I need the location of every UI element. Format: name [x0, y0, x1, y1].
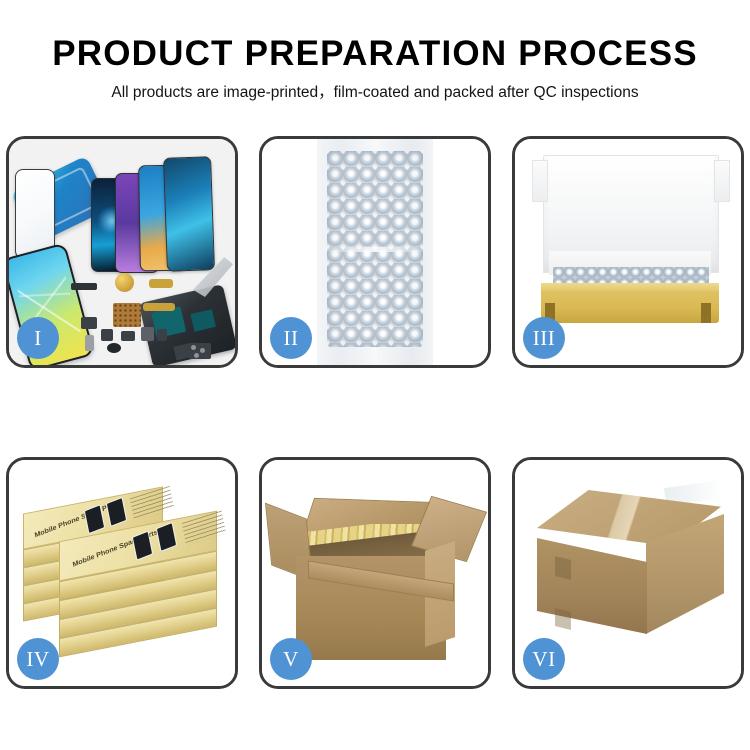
part-bar-icon — [71, 283, 97, 290]
process-step-panel-6[interactable]: VI — [512, 457, 744, 689]
bubble-wrap-seam-graphic — [323, 247, 427, 252]
part-square-5-icon — [157, 329, 167, 341]
process-step-panel-1[interactable]: I — [6, 136, 238, 368]
process-step-panel-2[interactable]: II — [259, 136, 491, 368]
part-camera-icon — [107, 343, 121, 353]
part-flex-cable-2-icon — [143, 303, 175, 311]
part-screws-icon — [189, 343, 211, 359]
phone-screen-fan-graphic — [47, 153, 235, 273]
part-square-1-icon — [81, 317, 97, 329]
sealed-carton-tab-upper — [555, 556, 571, 580]
part-chip-icon — [113, 303, 141, 327]
page-title: PRODUCT PREPARATION PROCESS — [0, 34, 750, 74]
process-step-panel-4[interactable]: Mobile Phone Spare Parts Mobile Phone Sp… — [6, 457, 238, 689]
step-badge-4: IV — [17, 638, 59, 680]
inner-box-tray-graphic — [541, 289, 719, 323]
part-square-3-icon — [121, 331, 135, 341]
page-header: PRODUCT PREPARATION PROCESS All products… — [0, 0, 750, 104]
part-square-2-icon — [101, 329, 113, 341]
part-sim-tray-icon — [85, 335, 94, 351]
step-badge-2: II — [270, 317, 312, 359]
step-badge-6: VI — [523, 638, 565, 680]
step-badge-1: I — [17, 317, 59, 359]
page-subtitle: All products are image-printed，film-coat… — [0, 82, 750, 104]
process-step-panel-3[interactable]: III — [512, 136, 744, 368]
process-step-grid: I II III — [6, 136, 744, 689]
step-badge-5: V — [270, 638, 312, 680]
step-badge-3: III — [523, 317, 565, 359]
sealed-carton-tab-lower — [555, 608, 571, 630]
process-step-panel-5[interactable]: V — [259, 457, 491, 689]
phone-screen-teal — [163, 156, 215, 272]
part-square-4-icon — [141, 327, 154, 341]
spare-parts-cluster-graphic — [87, 269, 207, 361]
part-coin-icon — [115, 273, 134, 292]
part-flex-cable-1-icon — [149, 279, 173, 288]
